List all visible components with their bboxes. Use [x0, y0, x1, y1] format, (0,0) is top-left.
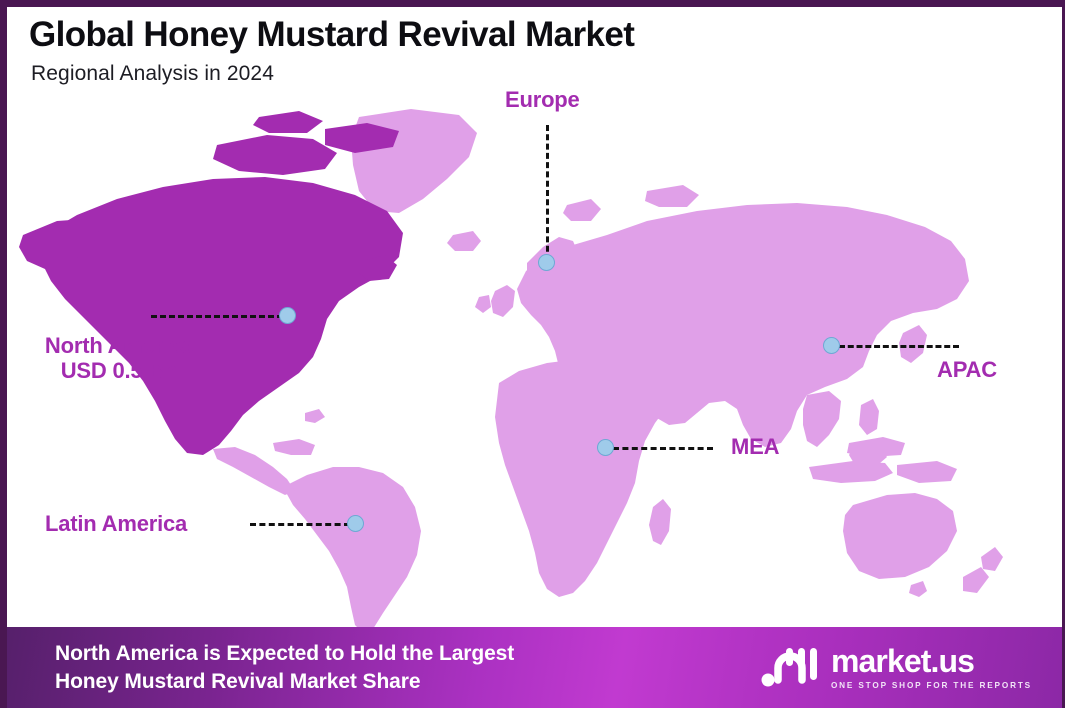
region-madagascar — [649, 499, 671, 545]
region-iceland — [447, 231, 481, 251]
callout-apac: APAC — [937, 357, 997, 382]
market-us-brand: market.us — [831, 645, 974, 677]
market-us-logo[interactable]: market.us ONE STOP SHOP FOR THE REPORTS — [760, 645, 1040, 690]
callout-europe-label: Europe — [505, 87, 580, 112]
region-bahamas — [305, 409, 325, 423]
region-arctic-canada-3 — [253, 111, 323, 133]
callout-latin-america-label: Latin America — [45, 511, 187, 536]
callout-north-america-value: USD 0.5 Bn — [19, 358, 219, 383]
region-south-america — [283, 467, 421, 633]
infographic-stage: Global Honey Mustard Revival Market Regi… — [7, 7, 1062, 708]
page-subtitle: Regional Analysis in 2024 — [31, 61, 1029, 86]
header: Global Honey Mustard Revival Market Regi… — [29, 14, 1029, 86]
market-us-logo-mark — [760, 646, 822, 690]
region-philippines — [859, 399, 879, 435]
infographic-root: Global Honey Mustard Revival Market Regi… — [0, 0, 1065, 708]
map-marker-latin-america[interactable] — [347, 515, 364, 532]
callout-north-america-label: North America — [45, 333, 193, 358]
map-marker-europe[interactable] — [538, 254, 555, 271]
footer-headline-line1: North America is Expected to Hold the La… — [55, 640, 514, 668]
region-new-zealand-s — [963, 567, 989, 593]
map-base-regions — [213, 109, 1003, 633]
map-marker-north-america[interactable] — [279, 307, 296, 324]
region-svalbard — [563, 199, 601, 221]
page-title: Global Honey Mustard Revival Market — [29, 14, 1029, 55]
region-indonesia-1 — [809, 461, 893, 483]
map-highlight-region — [19, 111, 403, 455]
region-british-isles — [491, 285, 515, 317]
region-southeast-asia — [803, 391, 841, 447]
region-japan — [899, 325, 927, 363]
region-ireland — [475, 295, 491, 313]
map-base-regions-overlay — [305, 409, 325, 423]
market-us-logo-text: market.us ONE STOP SHOP FOR THE REPORTS — [831, 645, 1032, 690]
region-new-guinea — [897, 461, 957, 483]
callout-north-america: North America USD 0.5 Bn — [19, 333, 219, 384]
footer-banner: North America is Expected to Hold the La… — [7, 627, 1062, 708]
region-australia — [843, 493, 957, 579]
footer-headline-line2: Honey Mustard Revival Market Share — [55, 668, 514, 696]
region-new-zealand-n — [981, 547, 1003, 571]
map-marker-mea[interactable] — [597, 439, 614, 456]
region-caribbean — [273, 439, 315, 455]
market-us-tagline: ONE STOP SHOP FOR THE REPORTS — [831, 681, 1032, 690]
region-tasmania — [909, 581, 927, 597]
map-marker-apac[interactable] — [823, 337, 840, 354]
region-north-america — [41, 177, 403, 455]
callout-mea-label: MEA — [731, 434, 779, 459]
callout-latin-america: Latin America — [45, 511, 187, 536]
region-arctic-canada-1 — [213, 135, 337, 175]
footer-headline: North America is Expected to Hold the La… — [55, 640, 514, 695]
callout-apac-label: APAC — [937, 357, 997, 382]
region-africa — [495, 359, 673, 597]
region-central-america — [213, 447, 295, 495]
callout-mea: MEA — [731, 434, 779, 459]
region-arctic-islands — [645, 185, 699, 207]
callout-europe: Europe — [505, 87, 580, 112]
